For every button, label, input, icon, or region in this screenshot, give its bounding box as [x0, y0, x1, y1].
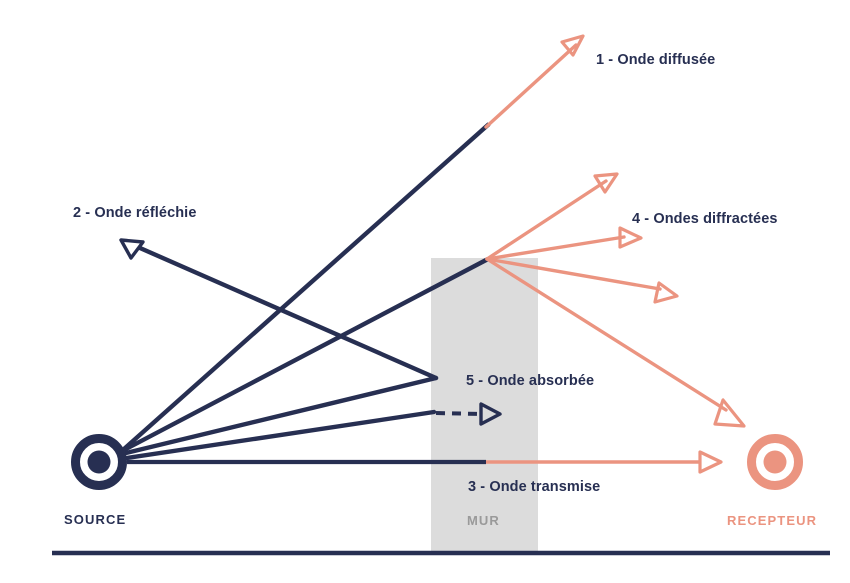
label-wave3-transmise: 3 - Onde transmise — [468, 479, 600, 495]
ray-wave3-arrowhead — [700, 452, 721, 472]
ray-wave2-reflechie — [121, 240, 436, 453]
ray-wave2-arrowhead — [121, 240, 143, 258]
label-source: SOURCE — [64, 512, 126, 527]
label-wave4-diffractees: 4 - Ondes diffractées — [632, 211, 778, 227]
acoustic-wave-diagram — [0, 0, 850, 583]
label-wave5-absorbee: 5 - Onde absorbée — [466, 373, 594, 389]
source-inner-dot — [88, 451, 111, 474]
receptor-target — [752, 439, 799, 486]
label-receptor: RECEPTEUR — [727, 513, 817, 528]
ray-wave3-transmise — [127, 452, 721, 472]
ray-wave4-branch-2 — [487, 237, 624, 259]
label-wave2-reflechie: 2 - Onde réfléchie — [73, 205, 196, 221]
ray-wave5-incident-segment — [127, 412, 434, 458]
label-wave1-diffusee: 1 - Onde diffusée — [596, 52, 715, 68]
ray-wave4-arrowhead-3 — [655, 283, 677, 302]
diagram-canvas: 1 - Onde diffusée 2 - Onde réfléchie 4 -… — [0, 0, 850, 583]
receptor-inner-dot — [764, 451, 787, 474]
ray-wave1-arrowhead — [562, 36, 583, 55]
ray-wave4-branch-1 — [487, 181, 606, 259]
ray-wave5-dashed-segment — [436, 413, 481, 414]
source-emitter — [76, 439, 123, 486]
label-wall: MUR — [467, 513, 500, 528]
ray-wave2-incident-segment — [126, 378, 436, 453]
ray-wave1-outgoing-segment — [486, 45, 576, 127]
ray-wave2-reflected-segment — [140, 248, 436, 378]
